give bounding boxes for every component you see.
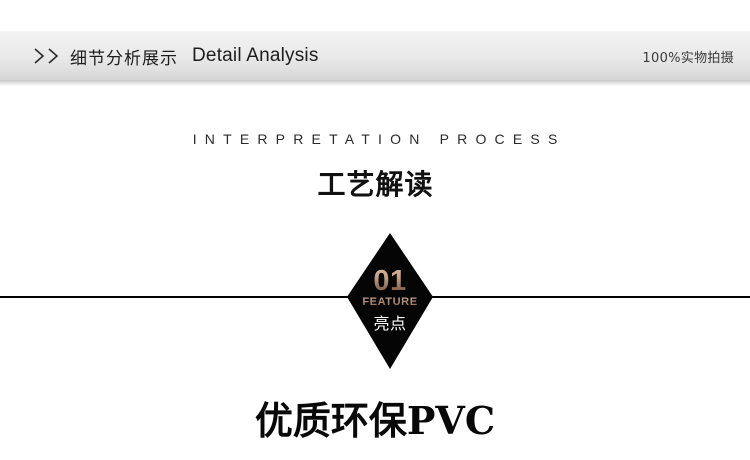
feature-tagline: 优质环保PVC xyxy=(0,390,750,445)
banner-title-cn: 细节分析展示 xyxy=(70,44,178,69)
double-chevron-right-icon xyxy=(33,47,60,65)
banner-title-en: Detail Analysis xyxy=(192,45,319,67)
detail-analysis-banner: 细节分析展示 Detail Analysis 100%实物拍摄 xyxy=(0,31,750,80)
page-title: 工艺解读 xyxy=(0,163,750,203)
section-eyebrow: INTERPRETATION PROCESS xyxy=(0,131,750,147)
banner-note: 100%实物拍摄 xyxy=(642,47,734,66)
banner-bar: 细节分析展示 Detail Analysis 100%实物拍摄 xyxy=(0,31,750,80)
banner-shadow xyxy=(0,80,750,86)
feature-diamond-badge xyxy=(347,233,433,369)
